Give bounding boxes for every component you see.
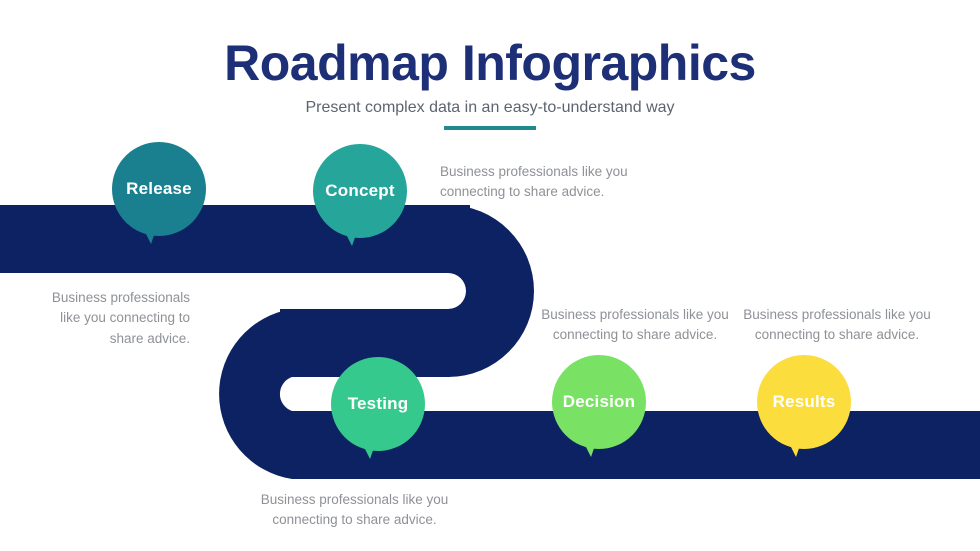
description-line: connecting to share advice. [242,510,467,530]
milestone-pin-concept[interactable]: Concept [313,144,407,238]
milestone-description-results: Business professionals like you connecti… [727,305,947,346]
description-line: Business professionals [10,288,190,308]
milestone-label-testing: Testing [331,357,425,451]
milestone-label-release: Release [112,142,206,236]
description-line: connecting to share advice. [525,325,745,345]
milestone-description-decision: Business professionals like you connecti… [525,305,745,346]
description-line: Business professionals like you [242,490,467,510]
milestone-pin-testing[interactable]: Testing [331,357,425,451]
description-line: Business professionals like you [727,305,947,325]
milestone-label-decision: Decision [552,355,646,449]
description-line: Business professionals like you [525,305,745,325]
road-body [0,0,980,551]
description-line: Business professionals like you [440,162,670,182]
milestone-description-concept: Business professionals like you connecti… [440,162,670,203]
milestone-pin-release[interactable]: Release [112,142,206,236]
description-line: like you connecting to [10,308,190,328]
milestone-description-release: Business professionals like you connecti… [10,288,190,349]
milestone-description-testing: Business professionals like you connecti… [242,490,467,531]
description-line: connecting to share advice. [440,182,670,202]
milestone-pin-decision[interactable]: Decision [552,355,646,449]
roadmap-path [0,0,980,551]
roadmap-infographic-slide: Roadmap Infographics Present complex dat… [0,0,980,551]
milestone-label-concept: Concept [313,144,407,238]
milestone-pin-results[interactable]: Results [757,355,851,449]
milestone-label-results: Results [757,355,851,449]
description-line: connecting to share advice. [727,325,947,345]
description-line: share advice. [10,329,190,349]
